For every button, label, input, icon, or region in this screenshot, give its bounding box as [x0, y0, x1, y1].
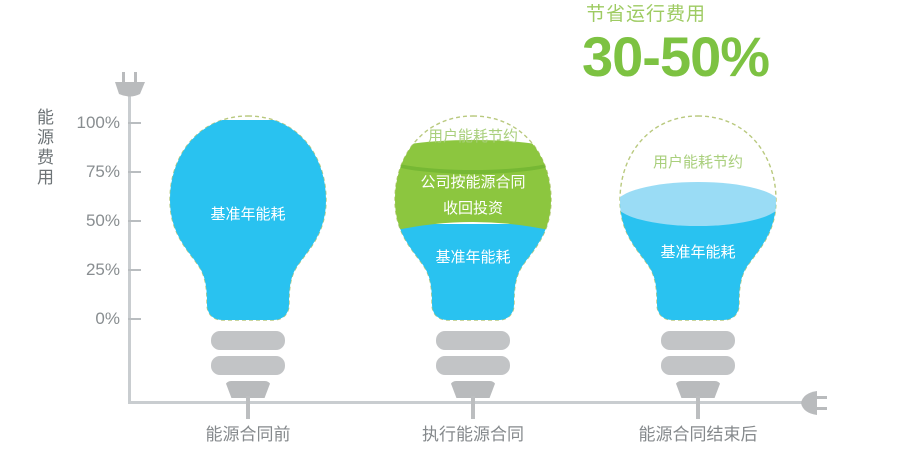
y-tick-mark-50 [128, 220, 141, 222]
bulb-3-base-stem [696, 396, 700, 419]
y-tick-mark-75 [128, 171, 141, 173]
bulb-3-shape [613, 112, 783, 342]
bulb-2-base-ring-1 [436, 331, 510, 350]
x-axis-label-before: 能源合同前 [148, 420, 348, 445]
y-tick-mark-100 [128, 122, 141, 124]
bulb-1-base-ring-1 [211, 331, 285, 350]
bulb-before-contract: 基准年能耗 [163, 112, 333, 412]
x-axis-label-during: 执行能源合同 [373, 420, 573, 445]
headline-value: 30-50% [582, 28, 842, 86]
bulb-3-liquid-surface [616, 182, 780, 226]
bulb-after-contract: 用户能耗节约 基准年能耗 [613, 112, 783, 412]
plug-icon [795, 387, 827, 419]
x-axis-label-after: 能源合同结束后 [598, 420, 798, 445]
bulb-2-fill-blue [388, 224, 558, 342]
plug-icon [113, 72, 147, 102]
bulb-during-contract: 用户能耗节约 公司按能源合同 收回投资 基准年能耗 [388, 112, 558, 412]
y-axis-line [128, 92, 131, 403]
y-tick-label-25: 25% [58, 260, 120, 280]
bulb-3-base-ring-2 [661, 356, 735, 375]
bulb-1-fill-blue [163, 120, 333, 342]
y-tick-label-100: 100% [58, 113, 120, 133]
y-tick-label-50: 50% [58, 211, 120, 231]
infographic-canvas: 节省运行费用 30-50% 能源费用 100% 75% 50% 25% 0% 能… [0, 0, 900, 473]
bulb-2-green-surface-top [388, 140, 558, 170]
y-tick-mark-0 [128, 318, 141, 320]
bulb-1-base-stem [246, 396, 250, 419]
y-axis-title: 能源费用 [30, 108, 54, 188]
bulb-2-base-ring-2 [436, 356, 510, 375]
bulb-2-base-stem [471, 396, 475, 419]
bulb-1-base-ring-2 [211, 356, 285, 375]
y-tick-mark-25 [128, 269, 141, 271]
bulb-1-shape [163, 112, 333, 342]
headline-block: 节省运行费用 30-50% [582, 2, 842, 86]
y-tick-label-0: 0% [58, 309, 120, 329]
bulb-2-shape [388, 112, 558, 342]
bulb-3-base-ring-1 [661, 331, 735, 350]
y-tick-label-75: 75% [58, 162, 120, 182]
y-axis-title-char: 能源费用 [30, 108, 56, 188]
